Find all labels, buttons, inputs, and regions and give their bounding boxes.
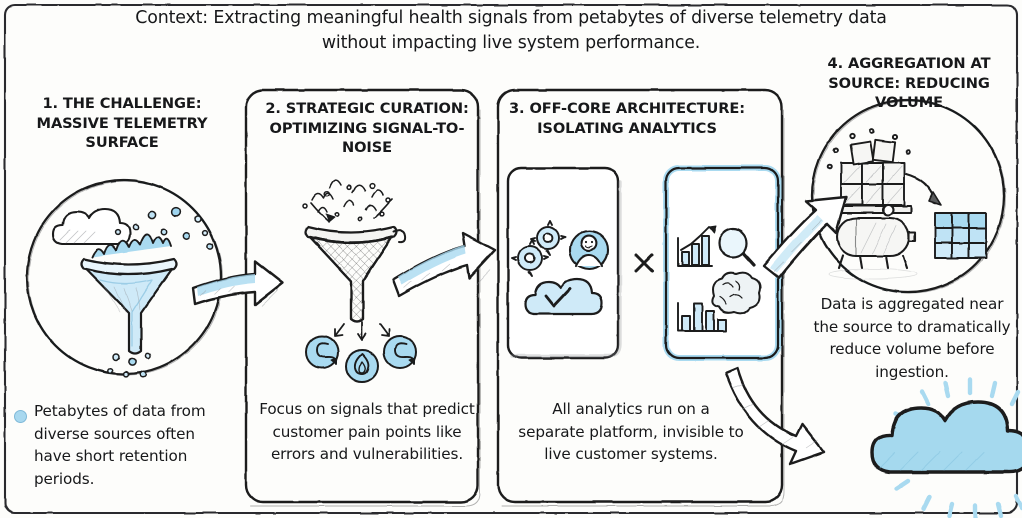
- mesh-funnel-icon: [306, 227, 406, 322]
- signal-badges: [306, 322, 416, 382]
- step-4-caption: Data is aggregated near the source to dr…: [806, 293, 1018, 383]
- live-systems-card: [508, 168, 620, 358]
- infographic-canvas: Context: Extracting meaningful health si…: [0, 0, 1022, 518]
- compressor-tank-icon: [829, 205, 917, 279]
- step-2-heading: 2. STRATEGIC CURATION: OPTIMIZING SIGNAL…: [256, 99, 478, 158]
- arrow-step1-to-step2: [193, 261, 283, 306]
- user-avatar-icon: [570, 231, 608, 269]
- flame-badge-icon: [346, 350, 378, 382]
- multiply-separator: [636, 255, 652, 271]
- context-statement: Context: Extracting meaningful health si…: [126, 6, 896, 56]
- refresh-badge-icon: [306, 336, 338, 368]
- curved-arrow-icon: [906, 174, 941, 205]
- analytics-card: [666, 168, 778, 358]
- stacked-boxes-icon: [828, 129, 910, 205]
- funnel-icon: [82, 234, 177, 353]
- refresh-badge-icon: [384, 336, 416, 368]
- bullet-dot-icon: [14, 410, 27, 423]
- step-2-caption: Focus on signals that predict customer p…: [258, 398, 476, 466]
- step-1-heading: 1. THE CHALLENGE: MASSIVE TELEMETRY SURF…: [14, 94, 230, 153]
- step-1-caption: Petabytes of data from diverse sources o…: [34, 400, 230, 490]
- radiating-cloud-icon: [872, 379, 1022, 518]
- cloud-icon: [53, 209, 130, 244]
- step-3-heading: 3. OFF-CORE ARCHITECTURE: ISOLATING ANAL…: [502, 99, 752, 138]
- step-4-heading: 4. AGGREGATION AT SOURCE: REDUCING VOLUM…: [800, 54, 1018, 113]
- brain-icon: [712, 273, 760, 314]
- step-3-caption: All analytics run on a separate platform…: [518, 398, 744, 466]
- noise-scribbles-icon: [303, 180, 392, 222]
- compressed-cube-icon: [935, 213, 986, 258]
